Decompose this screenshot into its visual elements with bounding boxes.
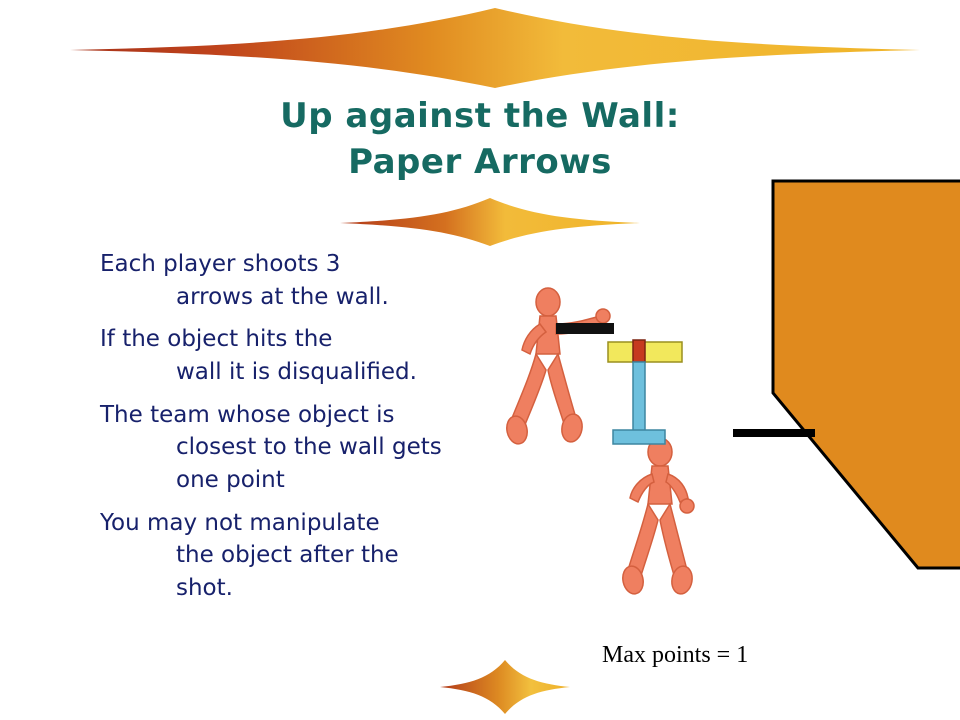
diamond-flourish-icon	[440, 660, 570, 714]
title-line-1: Up against the Wall:	[140, 94, 820, 140]
diamond-flourish-icon	[340, 198, 640, 246]
list-item: You may not manipulate the object after …	[100, 507, 520, 605]
stick-figures-launcher-icon	[490, 280, 720, 620]
bullet-line: wall it is disqualified.	[138, 356, 520, 389]
page-title: Up against the Wall: Paper Arrows	[140, 94, 820, 186]
bullet-line: Each player shoots 3	[100, 251, 340, 277]
bullet-line: You may not manipulate	[100, 510, 380, 536]
diamond-flourish-icon	[70, 8, 920, 88]
bullet-line: If the object hits the	[100, 326, 332, 352]
list-item: If the object hits the wall it is disqua…	[100, 323, 520, 388]
bullet-line: The team whose object is	[100, 402, 395, 428]
wall-shape-icon	[770, 178, 960, 578]
bullet-line: the object after the	[138, 539, 520, 572]
bullet-line: closest to the wall gets	[138, 431, 520, 464]
bullet-line: shot.	[138, 572, 520, 605]
bullet-line: arrows at the wall.	[138, 281, 520, 314]
title-line-2: Paper Arrows	[140, 140, 820, 186]
list-item: The team whose object is closest to the …	[100, 399, 520, 497]
slide: Up against the Wall: Paper Arrows	[0, 0, 960, 720]
arrow-mark-icon	[733, 429, 815, 437]
max-points-caption: Max points = 1	[602, 642, 748, 669]
bullet-list: Each player shoots 3 arrows at the wall.…	[100, 248, 520, 615]
bullet-line: one point	[138, 464, 520, 497]
list-item: Each player shoots 3 arrows at the wall.	[100, 248, 520, 313]
